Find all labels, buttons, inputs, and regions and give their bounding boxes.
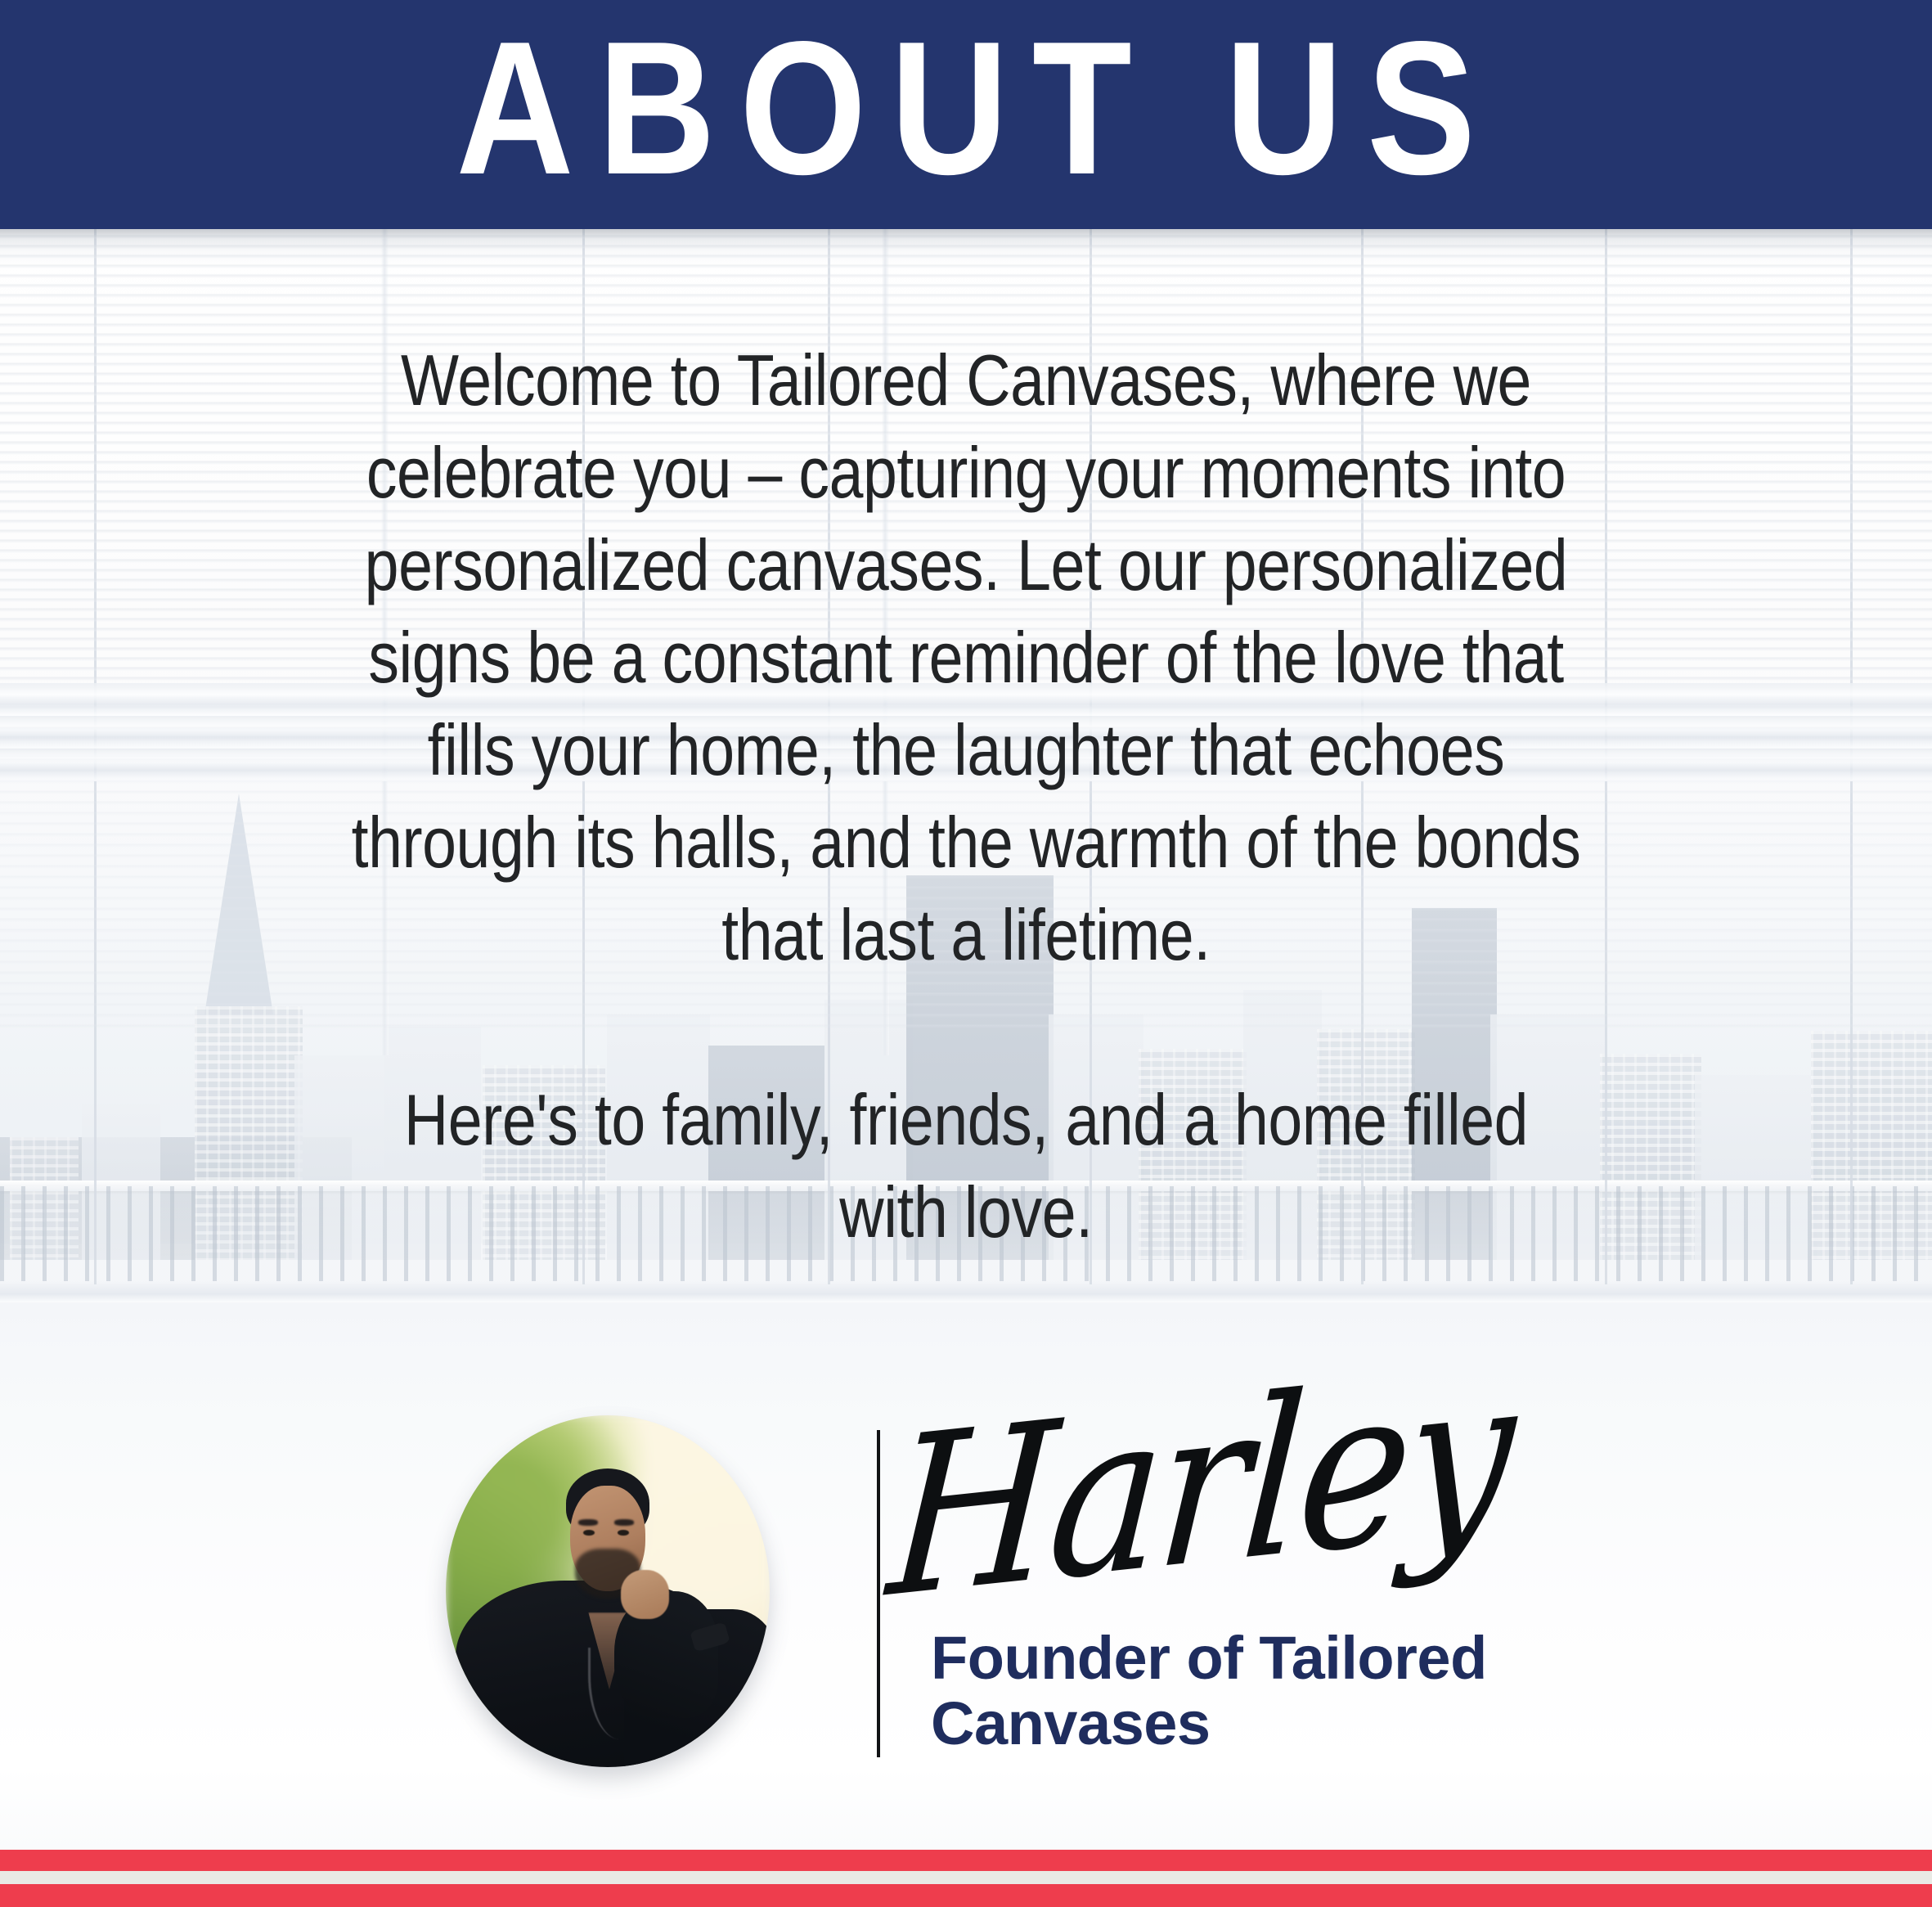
founder-title-line-1: Founder of Tailored xyxy=(931,1626,1552,1691)
footer-accent-bar-bottom xyxy=(0,1884,1932,1907)
header-banner: ABOUT US xyxy=(0,0,1932,229)
paragraph-closing: Here's to family, friends, and a home fi… xyxy=(350,1073,1583,1258)
founder-title-line-2: Canvases xyxy=(931,1691,1552,1756)
about-us-graphic: ABOUT US Welcome to Tailored Canvases, w… xyxy=(0,0,1932,1907)
parapet-ledge xyxy=(0,1281,1932,1302)
founder-portrait-photo xyxy=(446,1415,770,1767)
portrait-hand xyxy=(621,1570,669,1619)
portrait-eyebrow-right xyxy=(614,1519,634,1526)
footer-bar-gap xyxy=(0,1871,1932,1884)
paragraph-spacer xyxy=(350,981,1583,1073)
page-title: ABOUT US xyxy=(432,14,1499,204)
about-us-body-copy: Welcome to Tailored Canvases, where we c… xyxy=(350,334,1583,1258)
founder-title: Founder of Tailored Canvases xyxy=(931,1626,1552,1756)
portrait-eyebrow-left xyxy=(578,1519,598,1526)
footer-accent-bar-top xyxy=(0,1850,1932,1871)
avatar xyxy=(446,1415,770,1767)
vertical-divider xyxy=(877,1430,880,1757)
paragraph-intro: Welcome to Tailored Canvases, where we c… xyxy=(350,334,1583,981)
